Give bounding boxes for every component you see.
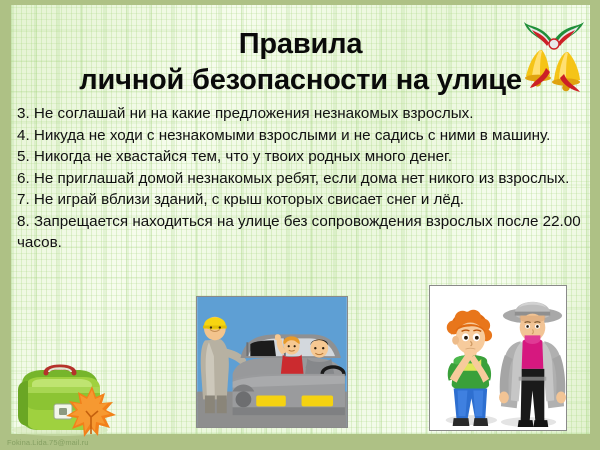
- slide-title: Правила личной безопасности на улице: [11, 26, 590, 98]
- bells-icon: [516, 18, 592, 96]
- rule-item-7: 7. Не играй вблизи зданий, с крыш которы…: [17, 189, 583, 211]
- slide-title-line-2: личной безопасности на улице: [11, 62, 590, 98]
- safety-rules-list: 3. Не соглашай ни на какие предложения н…: [17, 103, 583, 254]
- watermark-email: Fokina.Lida.75@mail.ru: [7, 438, 89, 448]
- slide-title-line-1: Правила: [11, 26, 590, 62]
- rule-item-3: 3. Не соглашай ни на какие предложения н…: [17, 103, 583, 125]
- school-satchel-icon: [4, 360, 120, 438]
- rule-item-6: 6. Не приглашай домой незнакомых ребят, …: [17, 168, 583, 190]
- illustration-stranger-with-boy: [429, 285, 567, 431]
- rule-item-4: 4. Никуда не ходи с незнакомыми взрослым…: [17, 125, 583, 147]
- illustration-stranger-in-car: [196, 296, 348, 428]
- rule-item-5: 5. Никогда не хвастайся тем, что у твоих…: [17, 146, 583, 168]
- slide-canvas: Правила личной безопасности на улице 3. …: [0, 0, 600, 450]
- frame-border-top: [0, 0, 600, 5]
- rule-item-8: 8. Запрещается находиться на улице без с…: [17, 211, 583, 254]
